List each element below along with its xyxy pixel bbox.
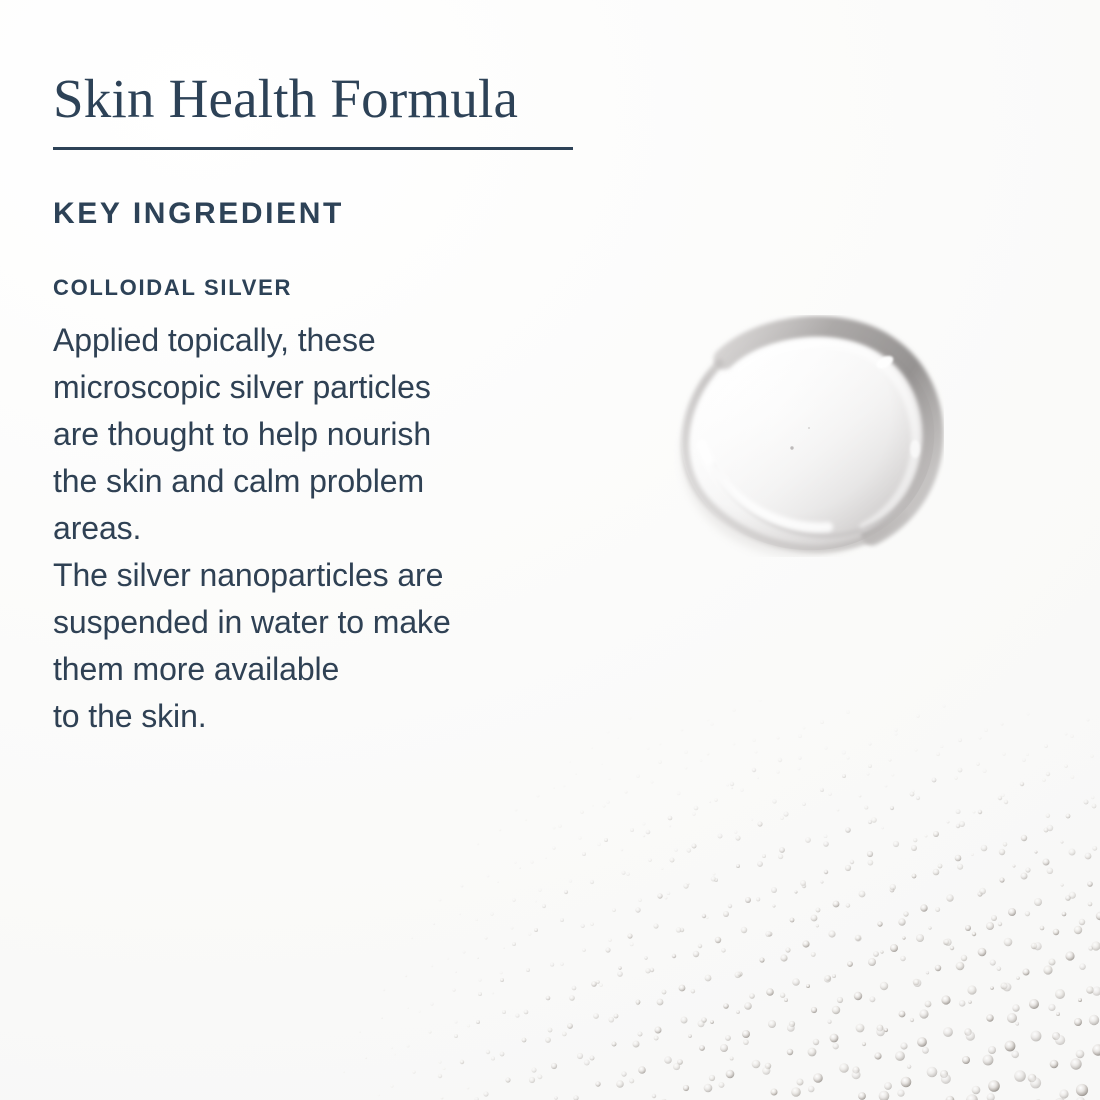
ingredient-description-paragraph-1: Applied topically, these microscopic sil… <box>53 301 553 552</box>
ingredient-name: COLLOIDAL SILVER <box>53 231 613 301</box>
description-line: suspended in water to make <box>53 599 553 646</box>
description-line: them more available <box>53 646 553 693</box>
section-heading-key-ingredient: KEY INGREDIENT <box>53 150 613 231</box>
description-line: The silver nanoparticles are <box>53 552 553 599</box>
description-line: the skin and calm problem <box>53 458 553 505</box>
description-line: are thought to help nourish <box>53 411 553 458</box>
description-line: Applied topically, these <box>53 317 553 364</box>
water-droplet-spray <box>330 700 1100 1100</box>
text-column: Skin Health Formula KEY INGREDIENT COLLO… <box>53 0 613 740</box>
description-line: microscopic silver particles <box>53 364 553 411</box>
water-droplet-image <box>672 315 944 557</box>
page-title: Skin Health Formula <box>53 0 613 130</box>
description-line: areas. <box>53 505 553 552</box>
ingredient-description-paragraph-2: The silver nanoparticles are suspended i… <box>53 552 553 740</box>
description-line: to the skin. <box>53 693 553 740</box>
product-ingredient-card: Skin Health Formula KEY INGREDIENT COLLO… <box>0 0 1100 1100</box>
